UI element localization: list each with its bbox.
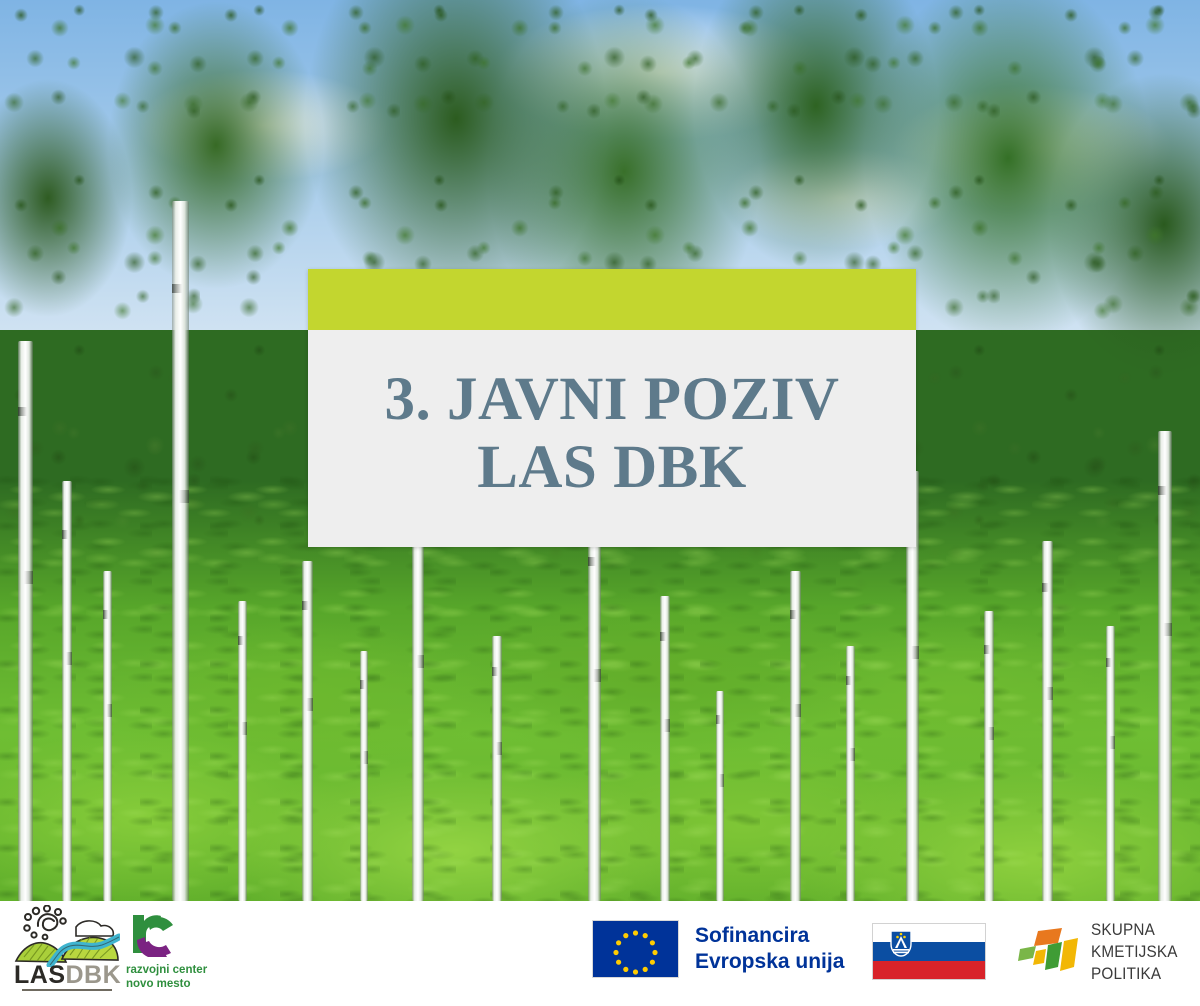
page-title: 3. JAVNI POZIV LAS DBK <box>330 366 894 503</box>
las-dbk-emblem-icon <box>14 905 120 967</box>
logo-skupna-kmetijska-politika: SKUPNA KMETIJSKA POLITIKA <box>1018 919 1187 984</box>
footer-logo-bar: LASDBK razvojni center novo mesto <box>0 901 1200 1006</box>
birch-trunk <box>412 486 424 901</box>
birch-trunk <box>238 601 247 901</box>
birch-trunk <box>302 561 313 901</box>
birch-trunk <box>360 651 368 901</box>
slovenia-coat-of-arms-icon <box>890 930 912 957</box>
skp-line-2: KMETIJSKA <box>1091 941 1178 963</box>
birch-trunk <box>492 636 502 901</box>
title-line-1: 3. JAVNI POZIV <box>330 366 894 434</box>
logo-razvojni-center-novo-mesto: razvojni center novo mesto <box>126 911 236 997</box>
rc-line-2: novo mesto <box>126 977 236 991</box>
rc-wordmark: razvojni center novo mesto <box>126 963 236 991</box>
eu-line-1: Sofinancira <box>695 923 844 949</box>
eu-line-2: Evropska unija <box>695 949 844 975</box>
skp-line-1: SKUPNA <box>1091 919 1178 941</box>
birch-trunk <box>588 511 601 901</box>
logo-slovenia-flag <box>872 923 986 980</box>
las-dbk-word-primary: LAS <box>14 961 66 989</box>
title-line-2: LAS DBK <box>330 434 894 502</box>
title-card-accent-band <box>308 269 916 330</box>
eu-wordmark: Sofinancira Evropska unija <box>695 923 844 974</box>
las-dbk-underline <box>22 989 112 991</box>
rc-monogram-icon <box>127 911 183 957</box>
title-card-body: 3. JAVNI POZIV LAS DBK <box>308 330 916 547</box>
birch-trunk <box>716 691 724 901</box>
birch-trunk <box>103 571 112 901</box>
birch-trunk <box>984 611 994 901</box>
skp-fields-icon <box>1018 927 1080 977</box>
birch-trunk <box>846 646 855 901</box>
las-dbk-wordmark: LASDBK <box>14 963 120 988</box>
poster: 3. JAVNI POZIV LAS DBK <box>0 0 1200 1006</box>
birch-trunk <box>1158 431 1172 901</box>
birch-trunk <box>660 596 670 901</box>
birch-trunk <box>62 481 72 901</box>
title-card: 3. JAVNI POZIV LAS DBK <box>308 269 916 547</box>
birch-trunk <box>172 201 189 901</box>
logo-european-union: Sofinancira Evropska unija <box>592 920 844 978</box>
birch-trunk <box>1042 541 1053 901</box>
las-dbk-word-secondary: DBK <box>66 961 122 989</box>
birch-trunk <box>790 571 801 901</box>
rc-line-1: razvojni center <box>126 963 236 977</box>
logo-las-dbk: LASDBK <box>14 905 120 1001</box>
birch-trunk <box>18 341 33 901</box>
flag-stripe-red <box>873 961 985 979</box>
skp-wordmark: SKUPNA KMETIJSKA POLITIKA <box>1091 919 1178 984</box>
eu-flag-icon <box>592 920 679 978</box>
skp-line-3: POLITIKA <box>1091 963 1178 985</box>
birch-trunk <box>1106 626 1115 901</box>
